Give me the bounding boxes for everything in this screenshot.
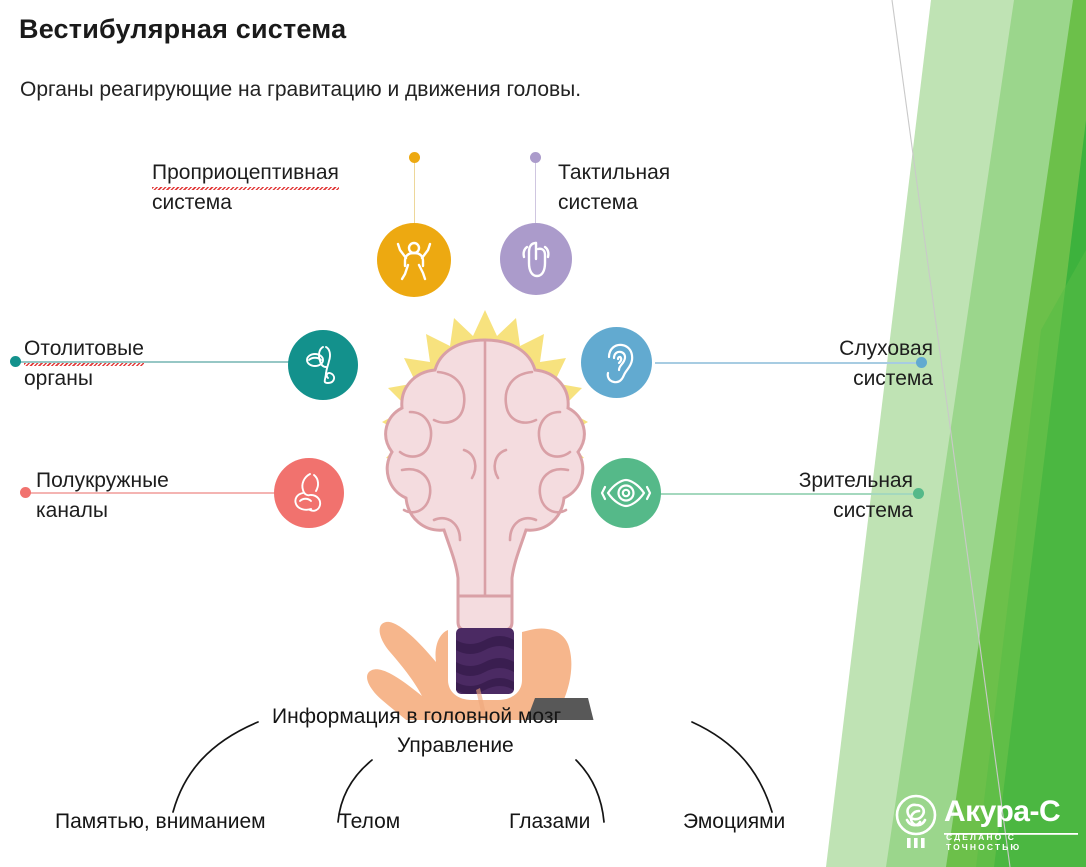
page-title: Вестибулярная система — [19, 14, 346, 45]
bubble-tactile[interactable] — [500, 223, 572, 295]
brain-shape — [386, 340, 585, 600]
footer-branch-memory: Памятью, вниманием — [55, 810, 266, 834]
label-canals: Полукружные каналы — [36, 466, 169, 526]
footer-branch-body: Телом — [339, 810, 400, 834]
bubble-otolith[interactable] — [288, 330, 358, 400]
connector-dot-proprioceptive — [409, 152, 420, 163]
label-otolith-line1: Отолитовые — [24, 334, 144, 364]
footer-headline-line2: Управление — [397, 734, 514, 758]
label-proprioceptive: Проприоцептивная система — [152, 158, 339, 218]
semicircular-canals-icon — [287, 471, 331, 515]
bulb-neck — [458, 596, 512, 630]
brand-logo-tagline: СДЕЛАНО С ТОЧНОСТЬЮ — [946, 832, 1086, 852]
connector-tactile — [535, 160, 536, 230]
connector-dot-tactile — [530, 152, 541, 163]
connector-dot-otolith — [10, 356, 21, 367]
label-canals-line1: Полукружные — [36, 469, 169, 492]
label-proprioceptive-line1: Проприоцептивная — [152, 158, 339, 188]
footer-branch-emotions: Эмоциями — [683, 810, 785, 834]
label-canals-line2: каналы — [36, 499, 108, 522]
slide-canvas: Вестибулярная система Органы реагирующие… — [0, 0, 1086, 867]
label-auditory-line1: Слуховая — [839, 337, 933, 360]
ear-icon — [597, 341, 637, 385]
label-auditory: Слуховая система — [713, 334, 933, 394]
connector-proprioceptive — [414, 160, 415, 232]
connector-dot-visual — [913, 488, 924, 499]
label-tactile: Тактильная система — [558, 158, 670, 218]
bubble-auditory[interactable] — [581, 327, 652, 398]
person-jumping-icon — [392, 238, 436, 282]
bubble-canals[interactable] — [274, 458, 344, 528]
label-visual-line2: система — [833, 499, 913, 522]
eye-icon — [602, 477, 650, 509]
bulb-screw-base — [456, 628, 514, 694]
brand-logo-name: Акура-С — [944, 795, 1060, 829]
label-visual: Зрительная система — [693, 466, 913, 526]
label-otolith: Отолитовые органы — [24, 334, 144, 394]
bubble-proprioceptive[interactable] — [377, 223, 451, 297]
label-auditory-line2: система — [853, 367, 933, 390]
footer-branch-eyes: Глазами — [509, 810, 590, 834]
bubble-visual[interactable] — [591, 458, 661, 528]
finger-touch-icon — [516, 237, 556, 281]
page-subtitle: Органы реагирующие на гравитацию и движе… — [20, 78, 581, 102]
connector-dot-canals — [20, 487, 31, 498]
label-otolith-line2: органы — [24, 367, 93, 390]
green-corner-decoration — [826, 0, 1086, 867]
footer-headline-line1: Информация в головной мозг — [272, 705, 561, 729]
otolith-organ-icon — [301, 343, 345, 387]
label-tactile-line1: Тактильная — [558, 161, 670, 184]
label-visual-line1: Зрительная — [799, 469, 913, 492]
label-tactile-line2: система — [558, 191, 638, 214]
label-proprioceptive-line2: система — [152, 191, 232, 214]
